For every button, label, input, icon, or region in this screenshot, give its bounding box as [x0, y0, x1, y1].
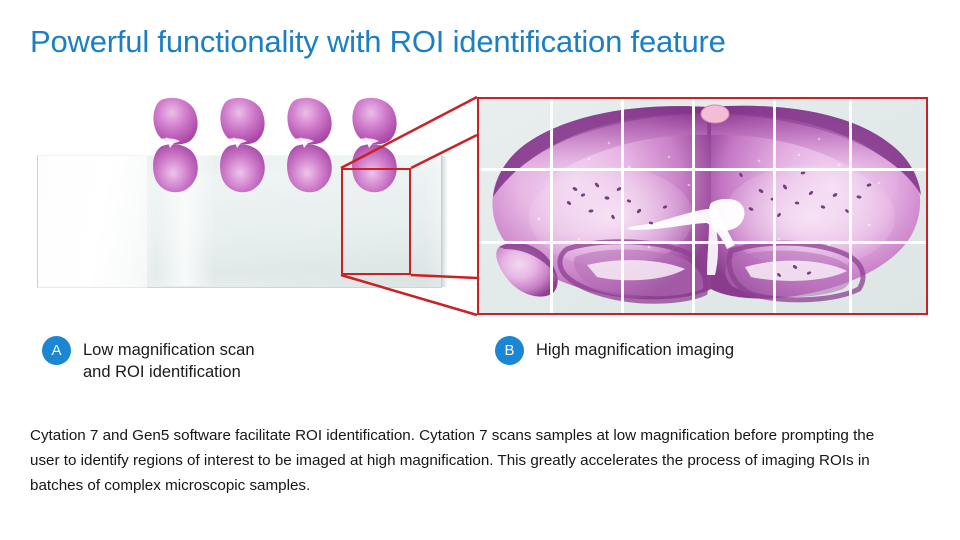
magnified-tissue-graphic	[479, 99, 925, 312]
figure-area	[0, 80, 960, 330]
presentation-slide: Powerful functionality with ROI identifi…	[0, 0, 960, 540]
panel-b-legend: B High magnification imaging	[495, 336, 734, 365]
body-paragraph: Cytation 7 and Gen5 software facilitate …	[30, 423, 898, 498]
grid-line-v4	[773, 99, 776, 313]
grid-line-v2	[621, 99, 624, 313]
page-title: Powerful functionality with ROI identifi…	[30, 22, 726, 62]
grid-line-h2	[479, 241, 926, 244]
tissue-section-2	[215, 96, 271, 194]
panel-a-legend: A Low magnification scan and ROI identif…	[42, 336, 255, 383]
slide-label-area	[37, 155, 148, 288]
panel-b-badge: B	[495, 336, 524, 365]
tissue-section-3	[282, 96, 338, 194]
grid-line-v1	[550, 99, 553, 313]
grid-line-h1	[479, 168, 926, 171]
roi-selection-box[interactable]	[341, 168, 411, 275]
tissue-section-1	[148, 96, 204, 194]
panel-a-badge: A	[42, 336, 71, 365]
high-magnification-image[interactable]	[477, 97, 928, 315]
grid-line-v5	[849, 99, 852, 313]
panel-b-caption: High magnification imaging	[536, 336, 734, 361]
panel-legend: A Low magnification scan and ROI identif…	[0, 334, 960, 396]
panel-a-caption: Low magnification scan and ROI identific…	[83, 336, 255, 383]
grid-line-v3	[692, 99, 695, 313]
